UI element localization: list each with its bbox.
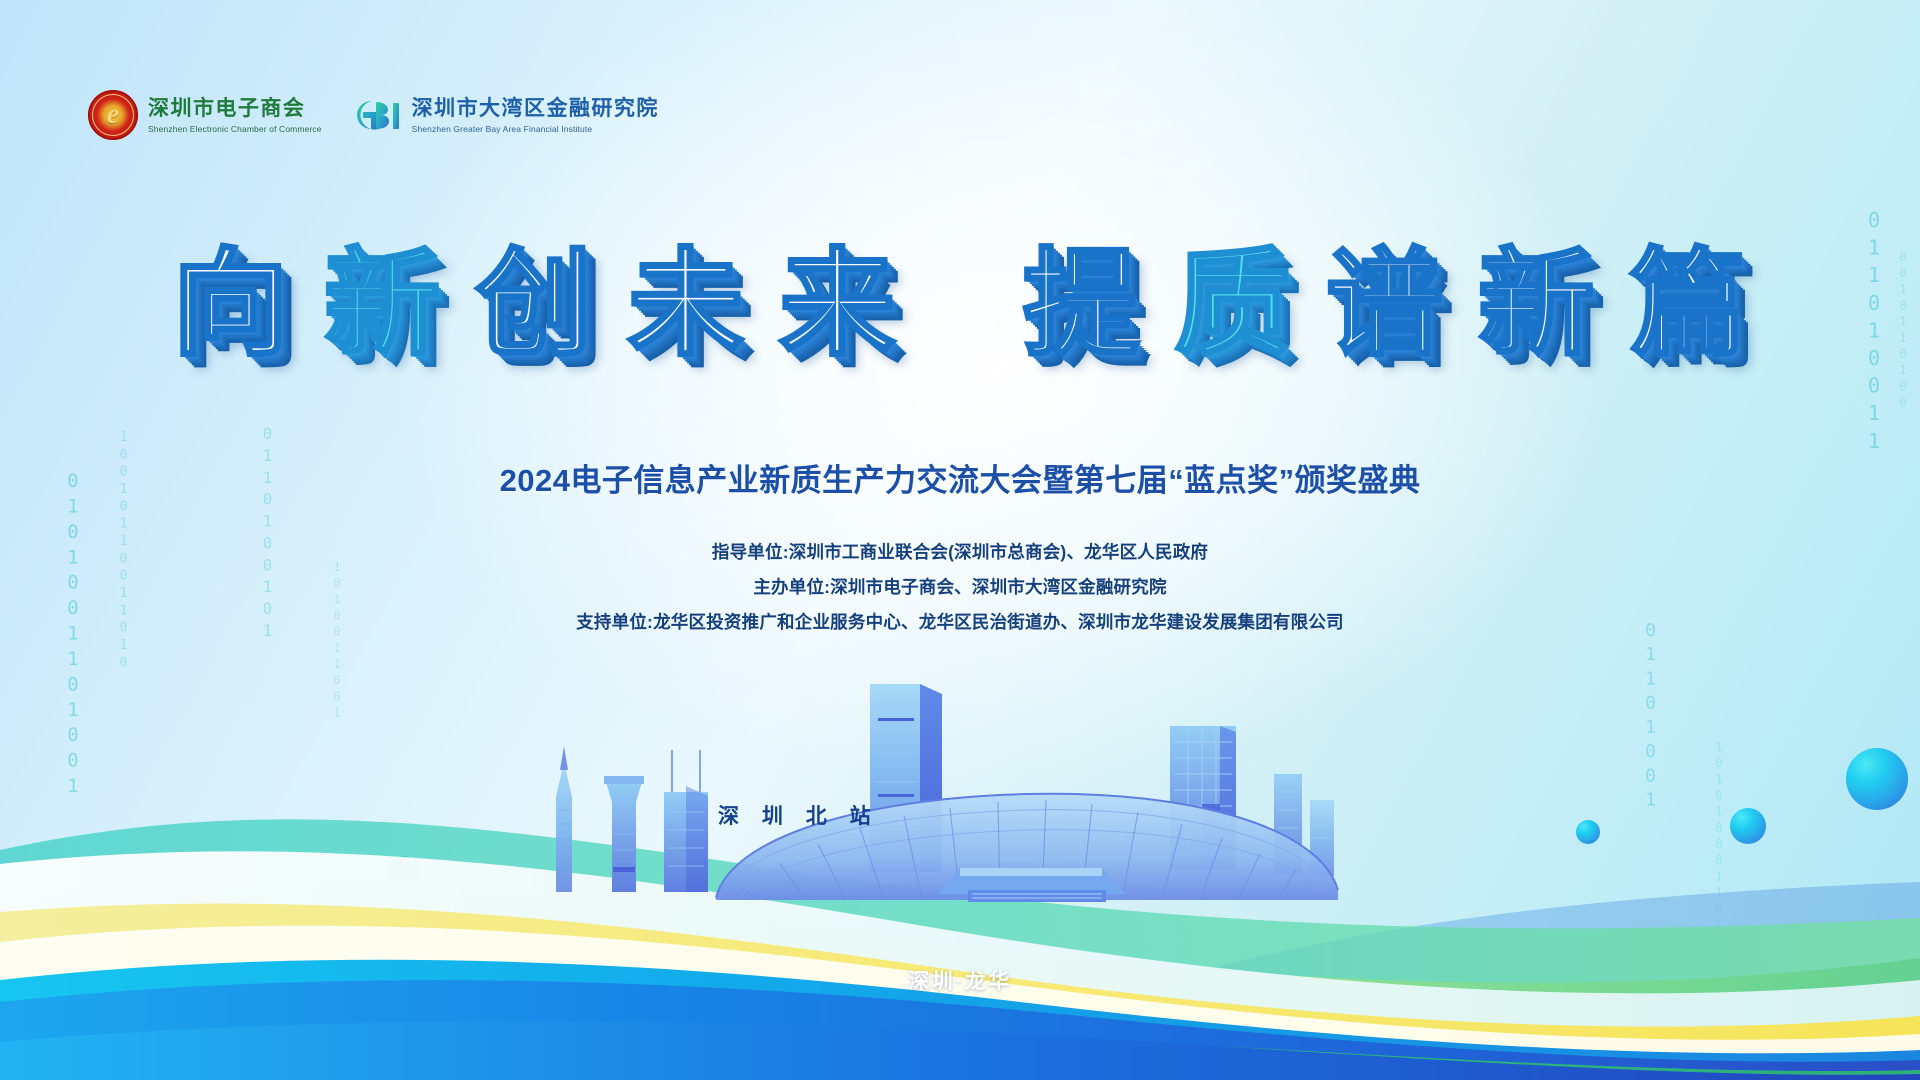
- main-headline: 向 新 创 未 来 提 质 谱 新 篇: [172, 246, 1747, 362]
- headline-block: 向 新 创 未 来 提 质 谱 新 篇: [0, 246, 1920, 362]
- event-subtitle: 2024电子信息产业新质生产力交流大会暨第七届“蓝点奖”颁奖盛典: [0, 455, 1920, 500]
- organizer-line-guidance: 指导单位:深圳市工商业联合会(深圳市总商会)、龙华区人民政府: [712, 539, 1208, 564]
- logo-name-en: Shenzhen Electronic Chamber of Commerce: [148, 124, 322, 134]
- gbi-monogram-icon: [350, 94, 402, 136]
- logo-name-en: Shenzhen Greater Bay Area Financial Inst…: [412, 124, 659, 134]
- headline-char-accent: 新: [324, 246, 442, 362]
- headline-char: 向: [172, 246, 290, 362]
- landmark-label: 深 圳 北 站: [718, 800, 880, 830]
- organizer-line-support: 支持单位:龙华区投资推广和企业服务中心、龙华区民治街道办、深圳市龙华建设发展集团…: [576, 609, 1344, 634]
- headline-char: 提: [1023, 246, 1141, 362]
- circular-red-gold-seal-icon: [88, 90, 138, 140]
- poster-canvas: 0101001101001 10010110011010 0110100101 …: [0, 0, 1920, 1080]
- headline-char: 新: [1478, 246, 1596, 362]
- headline-char: 谱: [1326, 246, 1444, 362]
- headline-char-accent: 质: [1175, 246, 1293, 362]
- shenzhen-skyline-illustration: [530, 642, 1370, 902]
- organizer-block: 指导单位:深圳市工商业联合会(深圳市总商会)、龙华区人民政府 主办单位:深圳市电…: [0, 539, 1920, 634]
- logo-bar: 深圳市电子商会 Shenzhen Electronic Chamber of C…: [88, 90, 659, 140]
- logo-name-cn: 深圳市大湾区金融研究院: [412, 96, 659, 120]
- footer-location: 深圳·龙华: [0, 965, 1920, 995]
- logo-name-cn: 深圳市电子商会: [148, 96, 322, 120]
- logo-gba-financial-institute: 深圳市大湾区金融研究院 Shenzhen Greater Bay Area Fi…: [350, 94, 659, 136]
- organizer-line-host: 主办单位:深圳市电子商会、深圳市大湾区金融研究院: [753, 574, 1166, 599]
- headline-char: 篇: [1630, 246, 1748, 362]
- logo-shenzhen-electronic-chamber: 深圳市电子商会 Shenzhen Electronic Chamber of C…: [88, 90, 322, 140]
- headline-char: 来: [779, 246, 897, 362]
- headline-char: 未: [628, 246, 746, 362]
- headline-char: 创: [476, 246, 594, 362]
